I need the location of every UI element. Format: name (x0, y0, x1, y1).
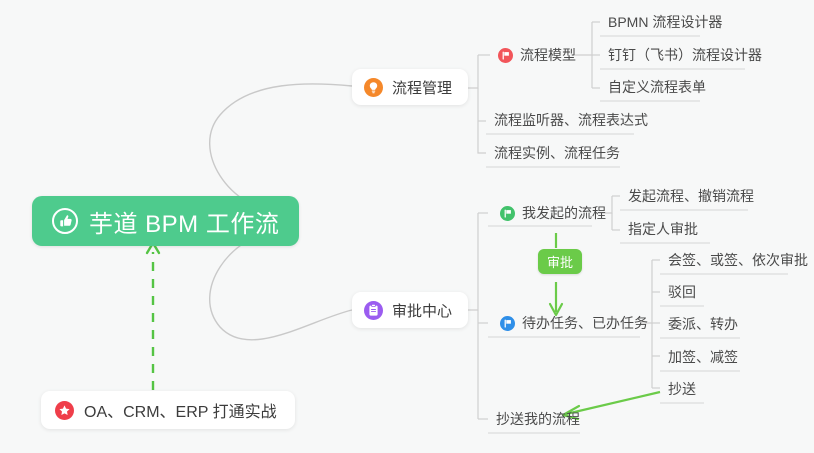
approval-badge: 审批 (538, 249, 582, 274)
node-label: 加签、减签 (668, 347, 738, 367)
node-assigned-approval[interactable]: 指定人审批 (620, 214, 706, 244)
node-label: BPMN 流程设计器 (608, 12, 722, 32)
node-label: 待办任务、已办任务 (522, 313, 648, 333)
mindmap-canvas: 芋道 BPM 工作流 流程管理 流程模型 BPMN 流程设计器 钉钉（飞书）流程… (0, 0, 814, 453)
callout-integration[interactable]: OA、CRM、ERP 打通实战 (41, 391, 295, 429)
node-reject[interactable]: 驳回 (660, 277, 704, 307)
branch-approval-center[interactable]: 审批中心 (352, 292, 468, 328)
node-label: 流程实例、流程任务 (494, 143, 620, 163)
node-label: 流程模型 (520, 45, 576, 65)
flag-blue-icon (500, 316, 515, 331)
node-instance-task[interactable]: 流程实例、流程任务 (486, 138, 628, 168)
node-label: 会签、或签、依次审批 (668, 250, 808, 270)
branch-process-management[interactable]: 流程管理 (352, 69, 468, 105)
node-cc-to-me[interactable]: 抄送我的流程 (488, 404, 588, 434)
flag-green-icon (500, 206, 515, 221)
node-countersign[interactable]: 会签、或签、依次审批 (660, 245, 814, 275)
star-icon (55, 401, 74, 420)
callout-arrow (147, 243, 159, 390)
node-label: 发起流程、撤销流程 (628, 186, 754, 206)
node-start-cancel-process[interactable]: 发起流程、撤销流程 (620, 181, 762, 211)
node-carbon-copy[interactable]: 抄送 (660, 374, 704, 404)
approval-badge-label: 审批 (547, 252, 573, 271)
node-label: 我发起的流程 (522, 203, 606, 223)
node-label: 委派、转办 (668, 314, 738, 334)
node-todo-done-tasks[interactable]: 待办任务、已办任务 (492, 308, 656, 338)
node-label: 驳回 (668, 282, 696, 302)
branch-label: 流程管理 (392, 77, 452, 98)
node-label: 钉钉（飞书）流程设计器 (608, 45, 762, 65)
node-label: 抄送 (668, 379, 696, 399)
node-delegate-transfer[interactable]: 委派、转办 (660, 309, 746, 339)
flag-red-icon (498, 48, 513, 63)
node-label: 抄送我的流程 (496, 409, 580, 429)
root-node[interactable]: 芋道 BPM 工作流 (32, 196, 299, 246)
branch-label: 审批中心 (392, 300, 452, 321)
node-listener-expression[interactable]: 流程监听器、流程表达式 (486, 105, 656, 135)
node-bpmn-designer[interactable]: BPMN 流程设计器 (600, 7, 730, 37)
callout-label: OA、CRM、ERP 打通实战 (84, 398, 277, 422)
node-custom-form[interactable]: 自定义流程表单 (600, 72, 714, 102)
lightbulb-icon (364, 78, 383, 97)
node-label: 流程监听器、流程表达式 (494, 110, 648, 130)
approval-arrow (550, 233, 562, 315)
node-label: 指定人审批 (628, 219, 698, 239)
clipboard-icon (364, 301, 383, 320)
root-label: 芋道 BPM 工作流 (89, 204, 279, 239)
node-my-started-processes[interactable]: 我发起的流程 (492, 198, 614, 228)
node-process-model[interactable]: 流程模型 (490, 40, 584, 70)
node-dingtalk-designer[interactable]: 钉钉（飞书）流程设计器 (600, 40, 770, 70)
thumbs-up-icon (52, 208, 78, 234)
node-add-remove-sign[interactable]: 加签、减签 (660, 342, 746, 372)
node-label: 自定义流程表单 (608, 77, 706, 97)
